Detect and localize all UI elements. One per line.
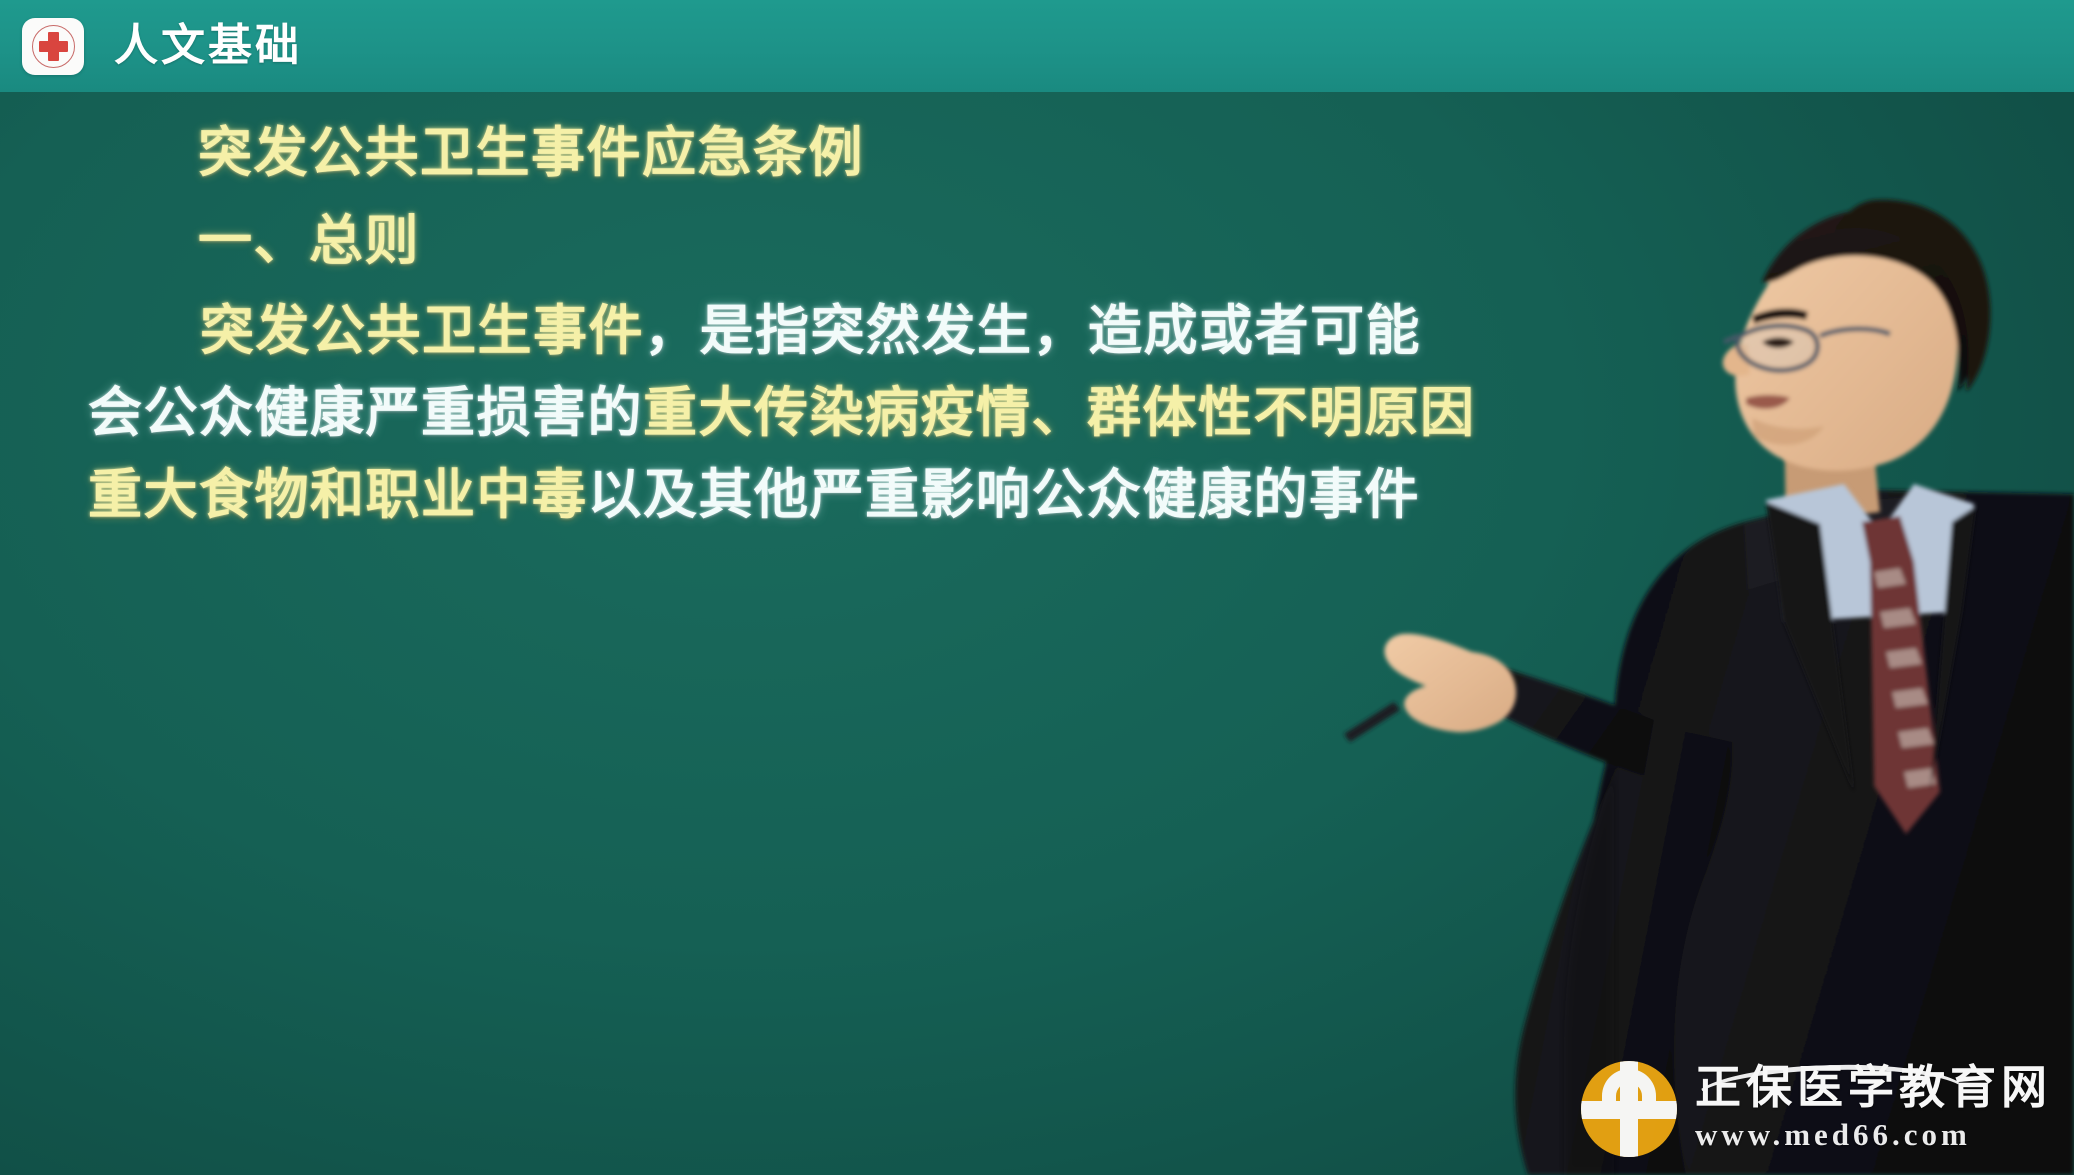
- slide-segment: 一、总则: [198, 211, 420, 271]
- watermark-url: www.med66.com: [1695, 1116, 2052, 1155]
- slide-line-title: 突发公共卫生事件应急条例: [0, 116, 1520, 190]
- slide-segment: 突发公共卫生事件: [200, 301, 644, 361]
- slide-line-body-2: 会公众健康严重损害的重大传染病疫情、群体性不明原因: [0, 376, 1520, 450]
- header-bar: 人文基础: [0, 0, 2074, 92]
- page-title: 人文基础: [114, 24, 302, 68]
- video-frame: 人文基础 突发公共卫生事件应急条例 一、总则 突发公共卫生事件，是指突然发生，造…: [0, 0, 2074, 1175]
- slide-line-section: 一、总则: [0, 204, 1520, 278]
- red-cross-medical-icon: [22, 18, 84, 75]
- slide-line-body-1: 突发公共卫生事件，是指突然发生，造成或者可能: [0, 294, 1520, 368]
- cross-circle-logo-icon: [1581, 1061, 1677, 1157]
- slide-segment: 会公众健康严重损害的: [88, 383, 643, 443]
- slide-board: 突发公共卫生事件应急条例 一、总则 突发公共卫生事件，是指突然发生，造成或者可能…: [0, 92, 2074, 1175]
- slide-segment: 以及其他严重影响公众健康的事件: [588, 465, 1421, 525]
- slide-segment: 重大传染病疫情、群体性不明原因: [643, 383, 1476, 443]
- slide-text-block: 突发公共卫生事件应急条例 一、总则 突发公共卫生事件，是指突然发生，造成或者可能…: [0, 92, 1520, 532]
- slide-segment: 重大食物和职业中毒: [88, 465, 588, 525]
- slide-line-body-3: 重大食物和职业中毒以及其他严重影响公众健康的事件: [0, 458, 1520, 532]
- slide-segment: 突发公共卫生事件应急条例: [198, 123, 864, 183]
- slide-segment: ，是指突然发生，造成或者可能: [644, 301, 1421, 361]
- watermark: 正保医学教育网 www.med66.com: [1581, 1061, 2052, 1157]
